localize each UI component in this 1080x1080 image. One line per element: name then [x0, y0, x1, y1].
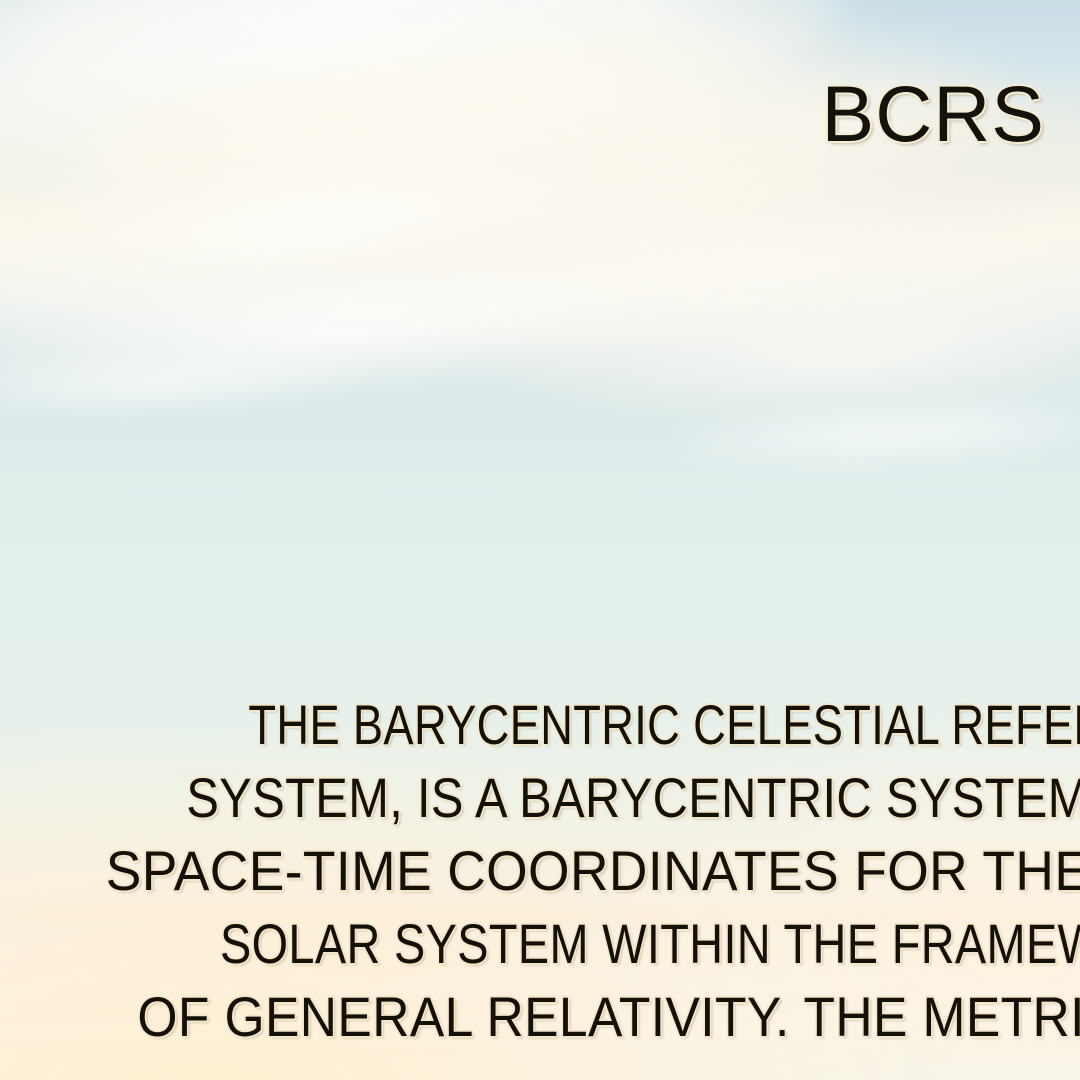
page-title: BCRS — [822, 74, 1046, 153]
quote-line-3: SPACE-TIME COORDINATES FOR THE — [106, 834, 1045, 907]
quote-line-4: SOLAR SYSTEM WITHIN THE FRAMEWORK — [220, 907, 1045, 980]
quote-line-2: SYSTEM, IS A BARYCENTRIC SYSTEM OF — [186, 761, 1045, 834]
quote-line-1: THE BARYCENTRIC CELESTIAL REFERENCE — [248, 688, 1045, 761]
quote-body: THE BARYCENTRIC CELESTIAL REFERENCE SYST… — [60, 688, 1045, 1053]
quote-line-5: OF GENERAL RELATIVITY. THE METRIC — [137, 980, 1045, 1053]
quote-card: BCRS THE BARYCENTRIC CELESTIAL REFERENCE… — [0, 0, 1080, 1080]
